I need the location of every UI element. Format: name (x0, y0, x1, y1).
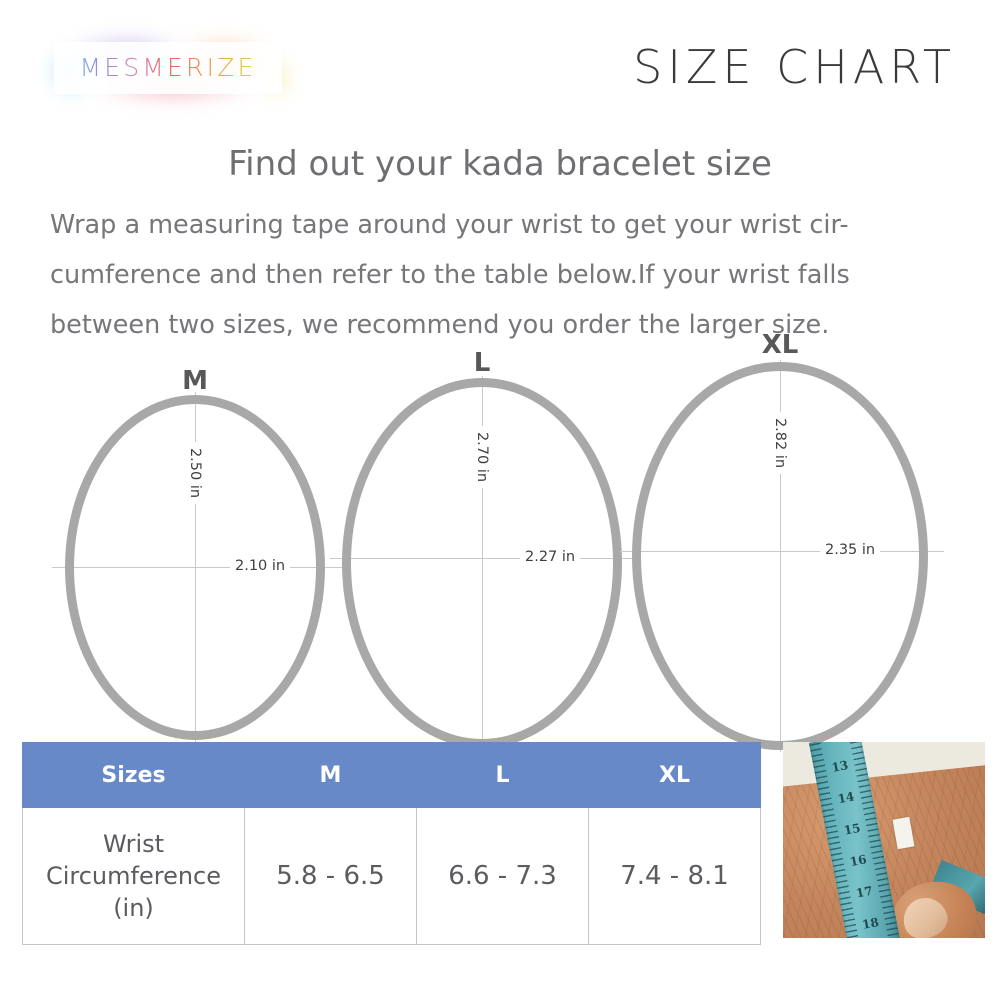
row-label-line-2: Circumference (24, 860, 243, 892)
intro-line-2: cumference and then refer to the table b… (50, 250, 950, 300)
oval-size-label-xl: XL (628, 330, 932, 360)
oval-height-label-l: 2.70 in (469, 426, 495, 488)
wrist-measuring-photo: 13 14 15 16 17 18 (783, 742, 985, 938)
brand-logo: MESMERIZE (54, 42, 282, 94)
size-table-body: Wrist Circumference (in) 5.8 - 6.5 6.6 -… (23, 808, 761, 945)
brand-logo-text: MESMERIZE (54, 42, 282, 94)
oval-height-label-xl: 2.82 in (767, 412, 793, 474)
page-header: MESMERIZE SIZE CHART (0, 0, 1000, 130)
table-header-row: Sizes M L XL (23, 743, 761, 808)
intro-paragraph: Wrap a measuring tape around your wrist … (50, 200, 950, 350)
row-label-line-1: Wrist (24, 828, 243, 860)
cell-wrist-l: 6.6 - 7.3 (417, 808, 589, 945)
cell-wrist-xl: 7.4 - 8.1 (589, 808, 761, 945)
headline: Find out your kada bracelet size (0, 144, 1000, 184)
size-table: Sizes M L XL Wrist Circumference (in) 5.… (22, 742, 761, 945)
page-title: SIZE CHART (633, 40, 956, 94)
cell-wrist-m: 5.8 - 6.5 (245, 808, 417, 945)
size-table-head: Sizes M L XL (23, 743, 761, 808)
oval-width-label-xl: 2.35 in (820, 542, 880, 558)
table-header-sizes: Sizes (23, 743, 245, 808)
table-header-m: M (245, 743, 417, 808)
oval-width-label-l: 2.27 in (520, 549, 580, 565)
table-row: Wrist Circumference (in) 5.8 - 6.5 6.6 -… (23, 808, 761, 945)
oval-diagrams: M 2.50 in 2.10 in L 2.70 in 2.27 in XL 2… (0, 340, 1000, 740)
oval-width-label-m: 2.10 in (230, 558, 290, 574)
oval-height-label-m: 2.50 in (182, 442, 208, 504)
table-header-l: L (417, 743, 589, 808)
table-header-xl: XL (589, 743, 761, 808)
row-label-wrist-circumference: Wrist Circumference (in) (23, 808, 245, 945)
intro-line-1: Wrap a measuring tape around your wrist … (50, 200, 950, 250)
oval-size-label-l: L (338, 348, 626, 378)
row-label-line-3: (in) (24, 892, 243, 924)
